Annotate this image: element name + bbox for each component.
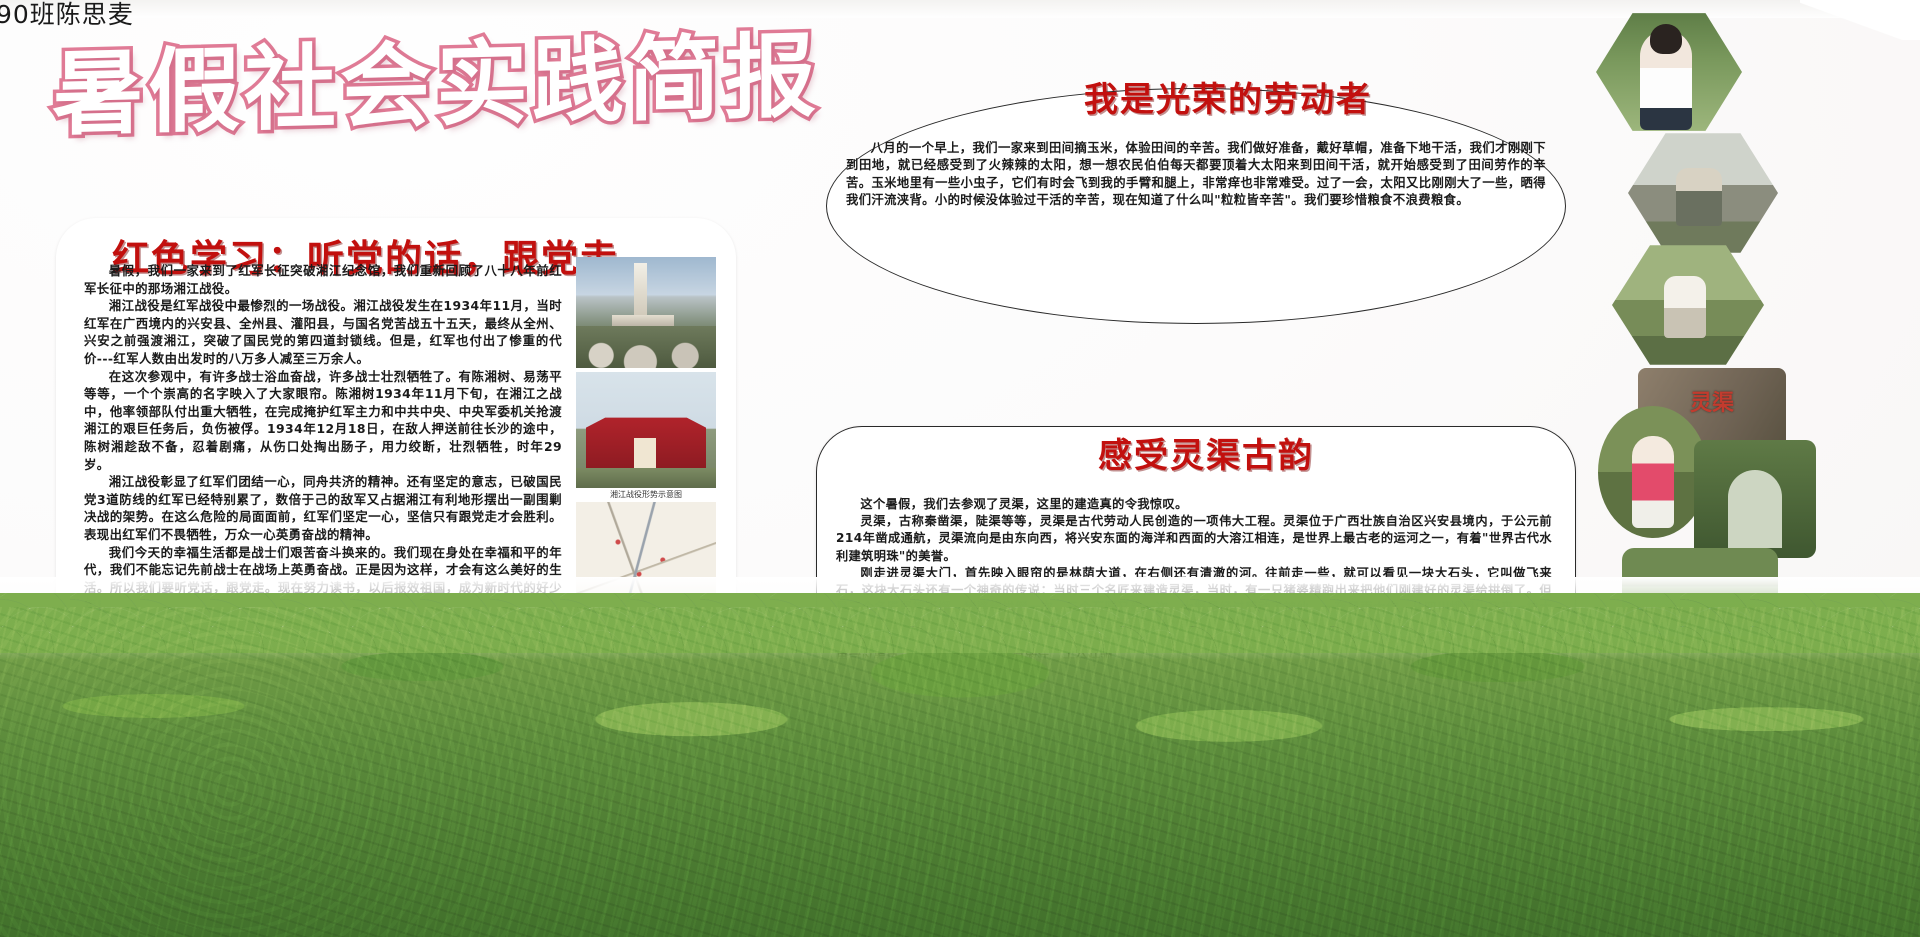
paragraph: 湘江战役是红军战役中最惨烈的一场战役。湘江战役发生在1934年11月，当时红军在… [84, 297, 562, 367]
class-label: 90班陈思麦 [0, 2, 134, 27]
paragraph: 八月的一个早上，我们一家来到田间摘玉米，体验田间的辛苦。我们做好准备，戴好草帽，… [846, 140, 1546, 210]
poster-canvas: 90班陈思麦 暑假社会实践简报 红色学习：听党的话，跟党走 暑假，我们一家来到了… [0, 0, 1920, 937]
paragraph: 暑假，我们一家来到了红军长征突破湘江纪念馆，我们重新回顾了八十八年前红军长征中的… [84, 262, 562, 297]
paragraph: 在这次参观中，有许多战士浴血奋战，许多战士壮烈牺牲了。有陈湘树、易荡平等等，一个… [84, 368, 562, 474]
photo-student-portrait [1596, 8, 1742, 136]
photo-sweeping-yard [1612, 240, 1764, 370]
forest-background-photo [0, 607, 1920, 937]
worker-figure [1664, 276, 1706, 338]
museum-entrance [634, 438, 656, 468]
photo-sweeping-road [1628, 128, 1778, 258]
map-lines [576, 502, 716, 602]
section-body-glorious-worker: 八月的一个早上，我们一家来到田间摘玉米，体验田间的辛苦。我们做好准备，戴好草帽，… [846, 140, 1546, 210]
paragraph: 湘江战役彰显了红军们团结一心，同舟共济的精神。还有坚定的意志，已破国民党3道防线… [84, 473, 562, 543]
photo-museum [576, 372, 716, 494]
girl-figure [1632, 436, 1674, 528]
photo-battle-map [576, 502, 716, 602]
archway-shape [1728, 470, 1782, 548]
monument-rocks [576, 326, 716, 368]
section-heading-glorious-worker: 我是光荣的劳动者 [1084, 72, 1372, 121]
photo-monument [576, 257, 716, 368]
worker-figure [1676, 168, 1722, 226]
paragraph: 灵渠，古称秦凿渠，陡渠等等，灵渠是古代劳动人民创造的一项伟大工程。灵渠位于广西壮… [836, 513, 1552, 565]
forest-texture [0, 607, 1920, 937]
photo-archway [1694, 440, 1816, 558]
photo-caption-battle-map: 湘江战役形势示意图 [576, 488, 716, 502]
page-title: 暑假社会实践简报 [52, 29, 820, 144]
scan-corner [1800, 0, 1920, 40]
photo-girl-at-gate [1598, 406, 1708, 538]
portrait-hair [1650, 24, 1682, 54]
monument-obelisk [634, 263, 647, 319]
paragraph: 这个暑假，我们去参观了灵渠，这里的建造真的令我惊叹。 [836, 496, 1552, 513]
section-heading-lingqu-canal: 感受灵渠古韵 [1098, 428, 1314, 477]
section-body-red-study: 暑假，我们一家来到了红军长征突破湘江纪念馆，我们重新回顾了八十八年前红军长征中的… [84, 262, 562, 614]
